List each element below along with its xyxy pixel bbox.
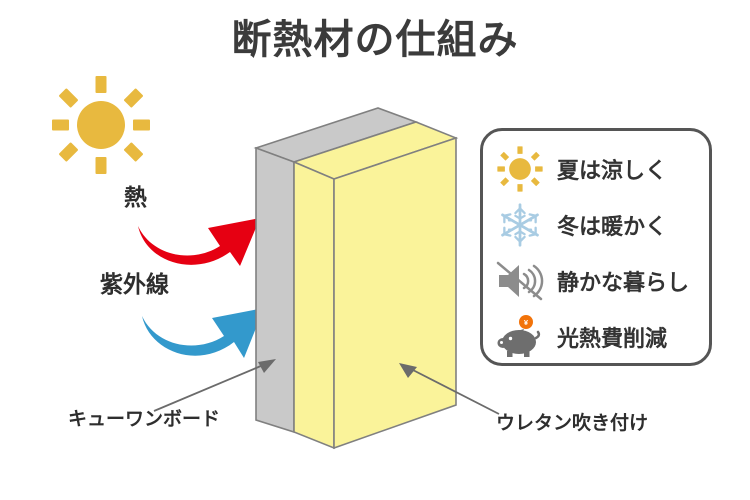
heat-arrow-icon — [136, 188, 264, 268]
legend-item-utility-savings: ¥ 光熱費削減 — [483, 309, 715, 365]
legend-item-winter-warm: 冬は暖かく — [483, 197, 715, 253]
legend-item-quiet-living: 静かな暮らし — [483, 253, 715, 309]
urethane-leader-line — [395, 360, 505, 420]
q1-board-callout-label: キューワンボード — [68, 404, 220, 431]
legend-label-summer-cool: 夏は涼しく — [557, 153, 667, 185]
legend-label-winter-warm: 冬は暖かく — [557, 209, 667, 241]
snowflake-icon — [483, 199, 557, 251]
urethane-side-face — [294, 162, 334, 448]
legend-item-summer-cool: 夏は涼しく — [483, 141, 715, 197]
sun-icon — [48, 72, 154, 178]
sun-icon — [483, 143, 557, 195]
infographic-canvas: 断熱材の仕組み 熱 紫外線 キューワ — [0, 0, 750, 500]
mute-speaker-icon — [483, 255, 557, 307]
benefits-legend-panel: 夏は涼しく — [480, 128, 712, 366]
page-title: 断熱材の仕組み — [0, 16, 750, 64]
legend-label-quiet-living: 静かな暮らし — [557, 265, 689, 297]
urethane-callout-label: ウレタン吹き付け — [496, 408, 648, 435]
piggy-bank-icon: ¥ — [483, 311, 557, 363]
legend-label-utility-savings: 光熱費削減 — [557, 321, 667, 353]
